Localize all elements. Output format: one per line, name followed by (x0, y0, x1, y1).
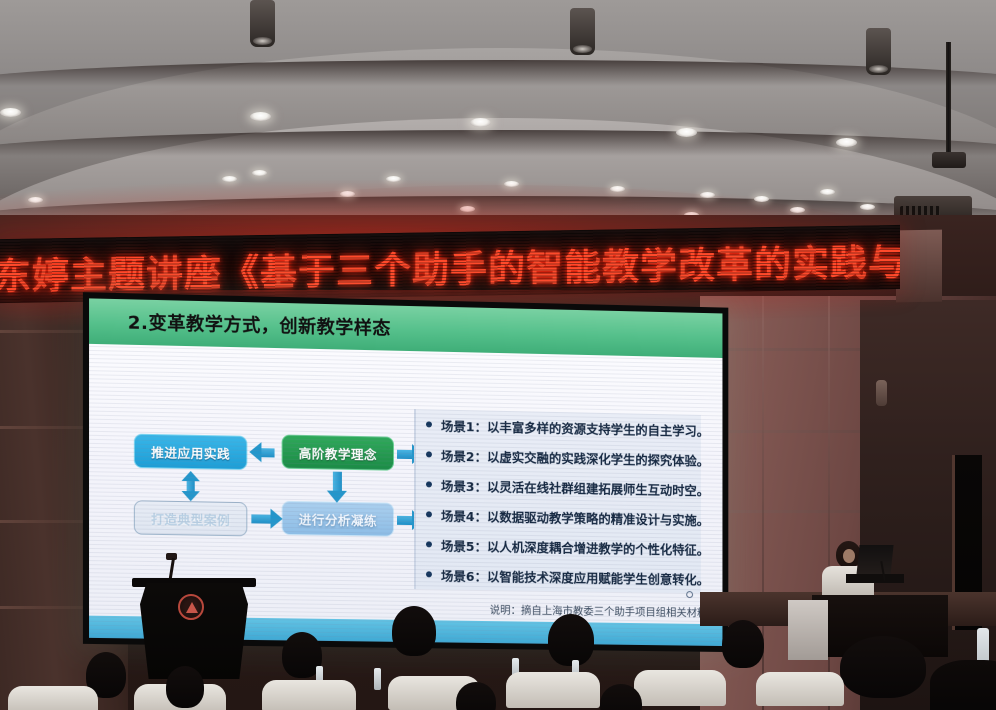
ceiling-spotlight-can (250, 0, 275, 47)
ceiling-downlight (836, 138, 857, 147)
audience-head (722, 620, 764, 668)
scenario-bullet-list: 场景1：以丰富多样的资源支持学生的自主学习。 场景2：以虚实交融的实践深化学生的… (414, 409, 701, 593)
projector-mount-pole (946, 42, 951, 160)
audience-chair (262, 680, 356, 710)
audience-chair (8, 686, 98, 710)
lecture-hall-scene: 东婷主题讲座《基于三个助手的智能教学改革的实践与思考》 2.变革教学方式，创新教… (0, 0, 996, 710)
scenario-label: 场景2：以虚实交融的实践深化学生的探究体验。 (441, 445, 709, 469)
audience-chair (506, 672, 600, 708)
wall-light-fixture (876, 380, 887, 406)
scenario-label: 场景3：以灵活在线社群组建拓展师生互动时空。 (441, 475, 709, 499)
bullet-dot-icon (426, 451, 432, 457)
flowchart-box-cases: 打造典型案例 (134, 500, 247, 536)
audience-head (166, 666, 204, 708)
presenter-face (843, 549, 855, 563)
list-item: 场景6：以智能技术深度应用赋能学生创意转化。 (416, 559, 701, 593)
flowchart-arrow-concept-to-apply (260, 448, 274, 457)
flowchart-box-concept: 高阶教学理念 (282, 435, 394, 471)
ceiling-spotlight-can (866, 28, 891, 75)
flowchart-arrow-concept-out (397, 450, 413, 459)
scenario-label: 场景4：以数据驱动教学策略的精准设计与实施。 (441, 505, 709, 528)
bullet-dot-icon (426, 421, 432, 427)
audience-shoulders (930, 660, 996, 710)
ceiling-downlight (676, 128, 697, 137)
presenter-table-cloth (788, 600, 828, 660)
audience-head (392, 606, 436, 656)
flowchart-arrow-analyze-out (397, 516, 413, 525)
presenter-laptop (856, 545, 893, 575)
scenario-label: 场景1：以丰富多样的资源支持学生的自主学习。 (441, 415, 709, 439)
flowchart: 推进应用实践 高阶教学理念 打造典型案例 进行分析凝练 (89, 344, 408, 591)
flowchart-arrow-concept-to-analyze (333, 472, 342, 492)
flowchart-box-analyze: 进行分析凝练 (282, 501, 394, 537)
ceiling-downlight (470, 118, 491, 127)
list-item: 场景3：以灵活在线社群组建拓展师生互动时空。 (416, 469, 701, 504)
scenario-label: 场景5：以人机深度耦合增进教学的个性化特征。 (441, 535, 709, 558)
ceiling-downlight (250, 112, 271, 121)
presenter-laptop-base (846, 574, 904, 583)
ceiling-spotlight-can (570, 8, 595, 55)
list-item: 场景5：以人机深度耦合增进教学的个性化特征。 (416, 529, 701, 563)
flowchart-arrow-apply-cases (187, 480, 195, 492)
ceiling-downlight (252, 170, 267, 176)
audience-head (548, 614, 594, 666)
flowchart-arrow-cases-to-analyze (251, 514, 271, 523)
slide-source-caption: 说明：摘自上海市教委三个助手项目组相关材料 (490, 602, 708, 620)
slide-marker-icon (686, 591, 693, 598)
audience-chair (634, 670, 726, 706)
list-item: 场景4：以数据驱动教学策略的精准设计与实施。 (416, 499, 701, 534)
ceiling-downlight (0, 108, 21, 117)
audience-chair (756, 672, 844, 706)
scenario-label: 场景6：以智能技术深度应用赋能学生创意转化。 (441, 565, 709, 588)
flowchart-box-apply: 推进应用实践 (134, 434, 247, 470)
projector-mount-bracket (932, 152, 966, 168)
podium-emblem-icon (178, 594, 204, 620)
audience-head (840, 636, 926, 698)
bullet-dot-icon (426, 511, 432, 517)
water-bottle (374, 668, 381, 690)
bullet-dot-icon (426, 571, 432, 577)
bullet-dot-icon (426, 481, 432, 487)
bullet-dot-icon (426, 541, 432, 547)
